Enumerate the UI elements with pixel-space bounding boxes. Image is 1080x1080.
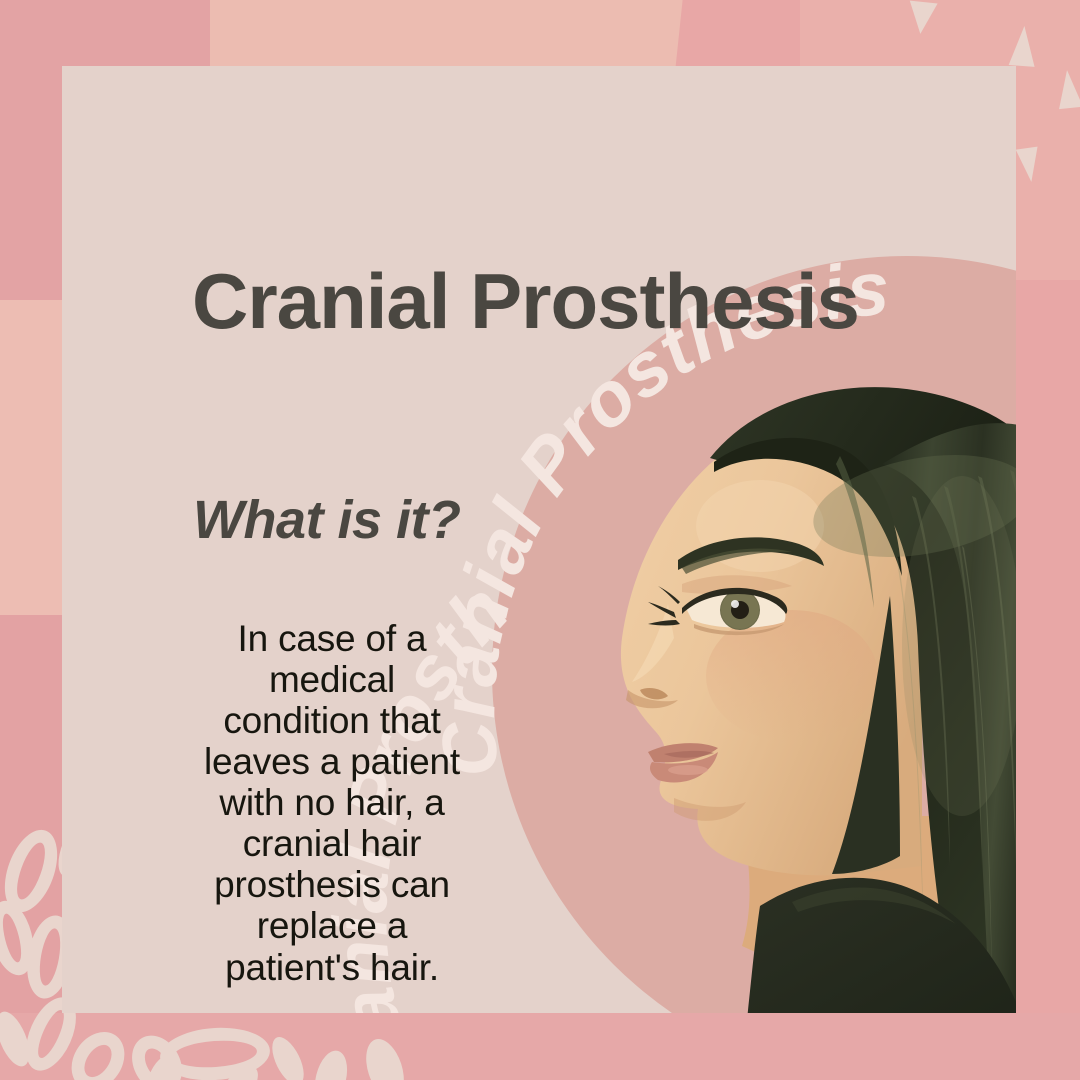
triangle-icon [906, 1, 937, 36]
triangle-icon [1055, 69, 1080, 109]
poster-canvas: Cranial Prosthesis Cranial Prosthesis Cr… [0, 0, 1080, 1080]
page-title: Cranial Prosthesis [192, 256, 859, 347]
content-panel: Cranial Prosthesis Cranial Prosthesis Cr… [62, 66, 1016, 1013]
triangle-icon [1016, 147, 1043, 184]
woman-profile-illustration [492, 346, 1016, 1013]
triangle-icon [1009, 25, 1038, 67]
body-paragraph: In case of a medical condition that leav… [192, 618, 472, 988]
section-subtitle: What is it? [193, 489, 460, 551]
